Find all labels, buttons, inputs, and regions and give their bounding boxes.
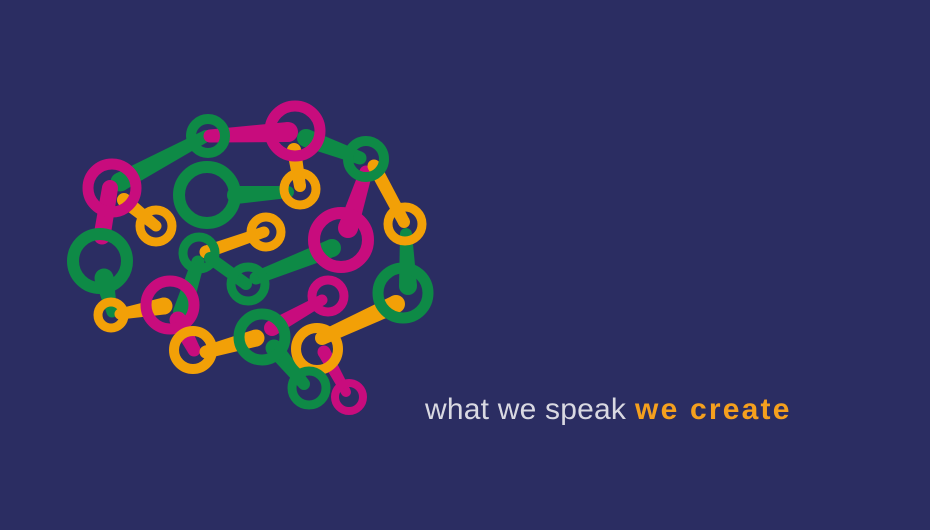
link-orangelow-to-greenlow-cap (248, 330, 265, 347)
link-topnode-to-topbig-cap (204, 130, 217, 143)
logo-node-group (73, 106, 428, 411)
link-magentamid-to-orangelow-cap (188, 344, 201, 357)
node-low-magenta-small (312, 280, 344, 312)
link-topnode-to-topbig-cap (278, 122, 298, 142)
link-greenlow-to-tailgreen-cap (298, 378, 310, 390)
link-orangemid-to-greensmall-cap (259, 227, 270, 238)
slide-canvas: what we speakwe create (0, 0, 930, 530)
link-rightgreen-to-orangeright-cap (398, 216, 410, 228)
link-orangesmall-to-magentamid-cap (156, 298, 173, 315)
tagline-regular: what we speak (425, 393, 626, 426)
link-topbig-to-orangesmall-cap (294, 180, 306, 192)
link-topleftring-down-cap (102, 180, 118, 196)
link-orangelower-to-tailmagenta-cap (318, 346, 331, 359)
node-center-large-green (179, 167, 235, 223)
node-tail-green-small (292, 371, 326, 405)
link-topleftring-to-small-cap (151, 221, 162, 232)
link-magentabig-to-greenmid-cap (323, 239, 341, 257)
link-orangeright-to-greenright-cap (399, 277, 417, 295)
brain-network-logo (60, 100, 440, 430)
link-topbig-to-rightgreen-cap (354, 152, 367, 165)
link-greenmid-small-to-left-cap (240, 278, 252, 290)
tagline: what we speakwe create (425, 390, 792, 430)
tagline-accent: we create (635, 393, 792, 426)
